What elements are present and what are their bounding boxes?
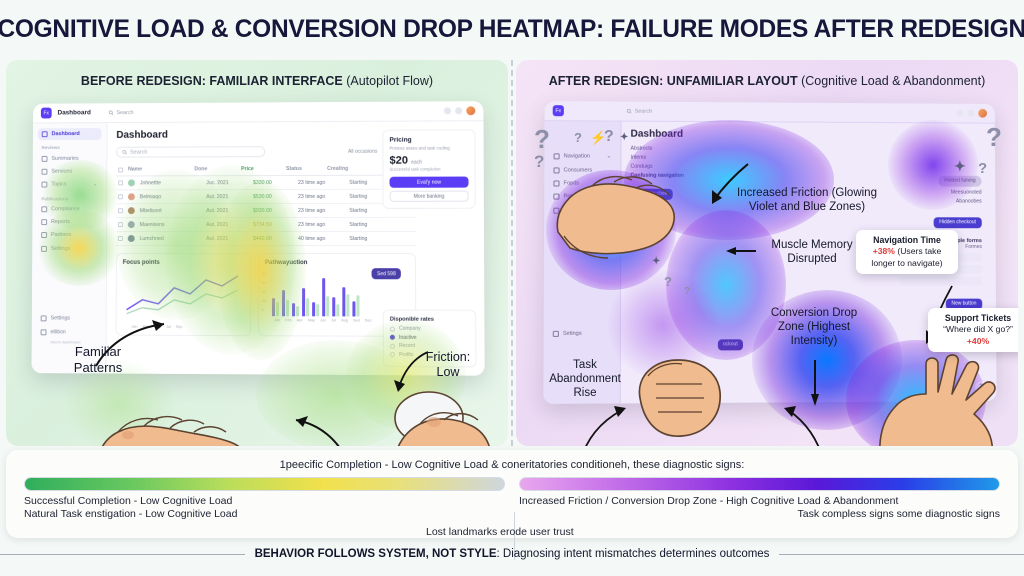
arrow-lost-landmarks bbox=[772, 400, 842, 446]
legend-col-right: Increased Friction / Conversion Drop Zon… bbox=[519, 477, 1000, 520]
menu-item-abstrocts[interactable]: Abstrocts bbox=[631, 146, 987, 154]
col-done[interactable]: Done bbox=[194, 166, 236, 172]
sidebar-item-compliance[interactable]: Compliance bbox=[37, 203, 101, 215]
avatar bbox=[128, 193, 135, 200]
focus-line-chart bbox=[123, 270, 242, 318]
sidebar-item-label: Compliance bbox=[51, 206, 80, 212]
right-panel-heading-note: (Cognitive Load & Abandonment) bbox=[801, 74, 985, 88]
topbar-icons[interactable] bbox=[444, 106, 475, 115]
legend-gradient-violet bbox=[519, 477, 1000, 491]
arrow-audit-caption bbox=[246, 412, 356, 446]
callout-muscle-memory: Muscle Memory Disrupted bbox=[752, 238, 872, 266]
sidebar-item-label: Topics bbox=[51, 182, 66, 188]
badge-quote: “Where did X go?” bbox=[943, 324, 1013, 334]
cell-price: $330.00 bbox=[253, 180, 293, 186]
app-brand-label: Dashboard bbox=[58, 109, 91, 116]
radio-inactive[interactable]: Inactive bbox=[390, 334, 469, 340]
list-item[interactable]: Meesuonoted bbox=[899, 189, 982, 195]
sidebar-item-consumers[interactable]: Consumers bbox=[549, 164, 615, 177]
gear-icon bbox=[41, 316, 47, 322]
right-panel-heading-bold: AFTER REDESIGN: UNFAMILIAR LAYOUT bbox=[549, 74, 798, 88]
left-panel-heading: BEFORE REDESIGN: FAMILIAR INTERFACE (Aut… bbox=[6, 74, 508, 88]
reports-icon bbox=[41, 219, 47, 225]
hidden-checkout-button[interactable]: Hidden checkout bbox=[933, 217, 981, 228]
left-panel-heading-note: (Autopilot Flow) bbox=[346, 74, 433, 88]
legend-lost-landmarks-label: Lost landmarks erode user trust bbox=[426, 526, 574, 538]
callout-friction-low: Friction: Low bbox=[410, 350, 486, 381]
summaries-icon bbox=[42, 155, 48, 161]
cell-name: Lumchned bbox=[140, 236, 202, 242]
badge-title: Navigation Time bbox=[863, 235, 951, 246]
app-logo-icon: Fx bbox=[553, 105, 564, 116]
legend-right-line1: Increased Friction / Conversion Drop Zon… bbox=[519, 495, 1000, 507]
topbar-search-placeholder: Search bbox=[116, 110, 133, 116]
avatar[interactable] bbox=[978, 109, 987, 118]
sidebar-item-label: Patrons bbox=[564, 194, 583, 200]
cell-time: 40 time ago bbox=[298, 235, 344, 241]
table-row[interactable]: Maenisens Aut. 2021 $734.50 23 time ago … bbox=[116, 218, 416, 232]
panel-before-redesign: BEFORE REDESIGN: FAMILIAR INTERFACE (Aut… bbox=[6, 60, 508, 446]
sidebar-item-topics[interactable]: Topics ⌄ bbox=[38, 179, 102, 191]
hand-illustration-left bbox=[84, 380, 264, 446]
partners-icon bbox=[41, 232, 47, 238]
sidebar-item-patrons[interactable]: Patrons bbox=[549, 191, 615, 204]
cell-date: Juc. 2021 bbox=[206, 180, 248, 186]
footer-text: BEHAVIOR FOLLOWS SYSTEM, NOT STYLE: Diag… bbox=[255, 548, 770, 560]
fopds-icon bbox=[553, 180, 559, 186]
cell-status: Starting bbox=[349, 193, 385, 199]
cell-status: Starting bbox=[349, 235, 385, 241]
col-name[interactable]: Name bbox=[128, 166, 189, 172]
avatar bbox=[128, 179, 135, 186]
callout-task-abandonment: Task Abandonment Rise bbox=[530, 358, 640, 400]
gear-icon bbox=[553, 207, 559, 213]
page-heading: Dashboard bbox=[116, 130, 168, 141]
row-checkbox[interactable] bbox=[118, 194, 123, 199]
gear-icon bbox=[41, 246, 47, 252]
menu-item-intems[interactable]: Intems bbox=[630, 155, 986, 162]
panel-after-redesign: AFTER REDESIGN: UNFAMILIAR LAYOUT (Cogni… bbox=[516, 60, 1018, 446]
patrons-icon bbox=[553, 194, 559, 200]
question-mark-icon: ? bbox=[534, 152, 544, 172]
cell-price: $530.00 bbox=[253, 193, 293, 199]
mock-topbar: Fx Dashboard Search bbox=[33, 101, 483, 123]
topics-icon bbox=[41, 182, 47, 188]
cell-status: Starting bbox=[349, 221, 385, 227]
pricing-note: Successful task completion bbox=[389, 166, 468, 171]
sidebar-group-publications: Publications bbox=[41, 196, 101, 201]
cell-time: 23 time ago bbox=[298, 207, 344, 213]
data-table: Name Done Price Status Creating Johnettt… bbox=[116, 163, 416, 246]
cell-date: Aut. 2021 bbox=[206, 194, 248, 200]
callout-familiar-patterns: Familiar Patterns bbox=[50, 344, 146, 376]
chart-tooltip: Sed 598 bbox=[372, 268, 401, 279]
sidebar-item-label: Dashboard bbox=[52, 131, 80, 137]
cell-price: $440.00 bbox=[253, 235, 293, 241]
rates-title: Disponible rates bbox=[390, 317, 469, 323]
sidebar-item-services[interactable]: Services bbox=[38, 165, 102, 177]
user-icon bbox=[41, 329, 47, 335]
grid-icon[interactable] bbox=[455, 107, 462, 114]
avatar bbox=[128, 207, 135, 214]
sidebar-item-label: Services bbox=[51, 169, 72, 175]
app-logo-icon: Fx bbox=[41, 108, 52, 119]
sidebar-item-fopds[interactable]: Fopds bbox=[549, 177, 615, 190]
radio-company[interactable]: Company bbox=[390, 326, 469, 332]
page-title-bar: COGNITIVE LOAD & CONVERSION DROP HEATMAP… bbox=[0, 0, 1024, 58]
topbar-search-input[interactable]: Search bbox=[627, 108, 951, 116]
pricing-secondary-button[interactable]: More banking bbox=[390, 191, 469, 202]
badge-navigation-time: Navigation Time +38% (Users take longer … bbox=[856, 230, 958, 274]
sidebar-item-reports[interactable]: Reports bbox=[37, 216, 101, 228]
col-status[interactable]: Status bbox=[286, 166, 322, 172]
footer-rest: : Diagnosing intent mismatches determine… bbox=[497, 548, 770, 560]
navigoto-chek-button[interactable]: Navigoto chek bbox=[630, 188, 672, 199]
avatar bbox=[128, 235, 135, 242]
pricing-amount: $20 bbox=[389, 155, 408, 167]
topbar-search-placeholder: Search bbox=[635, 108, 653, 114]
chevron-down-icon[interactable]: ⌄ bbox=[93, 182, 98, 188]
cell-status: Starting bbox=[349, 179, 385, 185]
sidebar-footer-setings[interactable]: Setings bbox=[549, 327, 615, 340]
cell-name: Mbelisont bbox=[140, 208, 201, 214]
sidebar-item-label: Settings bbox=[563, 207, 583, 213]
sidebar-item-partners[interactable]: Partners bbox=[37, 229, 101, 241]
sidebar-item-dashboard[interactable]: Dashboard bbox=[38, 128, 102, 140]
search-icon bbox=[122, 150, 127, 155]
table-row[interactable]: Johnettte Juc. 2021 $330.00 23 time ago … bbox=[116, 176, 416, 191]
search-icon bbox=[109, 110, 114, 115]
sidebar-item-label: Reports bbox=[51, 219, 70, 225]
badge-support-tickets: Support Tickets “Where did X go?” +40% bbox=[928, 308, 1018, 352]
search-icon bbox=[627, 109, 632, 114]
sidebar-item-settings[interactable]: Settings bbox=[549, 204, 615, 217]
cell-date: Aut. 2021 bbox=[206, 222, 248, 228]
table-header-row: Name Done Price Status Creating bbox=[116, 163, 416, 177]
cell-name: Johnettte bbox=[140, 180, 201, 186]
filter-dropdown[interactable]: All occasions bbox=[348, 148, 377, 154]
navigation-icon bbox=[554, 154, 560, 160]
sidebar-item-summaries[interactable]: Summaries bbox=[38, 152, 102, 164]
legend-label: Natural Task enstigation - Low Cognitive… bbox=[24, 508, 237, 520]
cell-price: $734.50 bbox=[253, 221, 293, 227]
sidebar-item-label: Settings bbox=[51, 246, 71, 252]
avatar bbox=[128, 221, 135, 228]
cell-date: Aut. 2021 bbox=[206, 236, 248, 242]
chevron-down-icon[interactable]: ⌄ bbox=[607, 154, 612, 160]
arrow-muscle-memory bbox=[722, 246, 756, 256]
sidebar-item-label: ellition bbox=[50, 329, 65, 335]
table-row[interactable]: Mbelisont Aut. 2021 $930.00 23 time ago … bbox=[116, 204, 416, 218]
bell-icon[interactable] bbox=[444, 107, 451, 114]
legend-label: Successful Completion - Low Cognitive Lo… bbox=[24, 495, 232, 507]
chart-y-axis: 80 60 40 20 0 bbox=[262, 270, 266, 315]
topbar-icons[interactable] bbox=[957, 109, 987, 118]
bell-icon[interactable] bbox=[957, 110, 964, 117]
sidebar-item-label: Consumers bbox=[564, 167, 593, 173]
badge-pct: +40% bbox=[935, 336, 1018, 347]
col-creating[interactable]: Creating bbox=[327, 166, 373, 172]
panel-divider bbox=[511, 60, 513, 446]
services-icon bbox=[42, 169, 48, 175]
cell-name: Maenisens bbox=[140, 222, 201, 228]
avatar[interactable] bbox=[466, 106, 475, 115]
legend-label: Task compless signs some diagnostic sign… bbox=[797, 508, 1000, 520]
row-checkbox[interactable] bbox=[118, 180, 123, 185]
sidebar-item-label: Summaries bbox=[51, 155, 78, 161]
legend-label: Increased Friction / Conversion Drop Zon… bbox=[519, 495, 898, 507]
legend-col-left: Successful Completion - Low Cognitive Lo… bbox=[24, 477, 505, 520]
checkout-button[interactable]: ockout bbox=[718, 339, 743, 350]
legend-left-line1: Successful Completion - Low Cognitive Lo… bbox=[24, 495, 505, 507]
table-row[interactable]: Lumchned Aut. 2021 $440.00 40 time ago S… bbox=[116, 232, 416, 246]
right-panel-heading: AFTER REDESIGN: UNFAMILIAR LAYOUT (Cogni… bbox=[516, 74, 1018, 88]
gear-icon bbox=[553, 331, 559, 337]
mock-topbar: Fx Search bbox=[545, 101, 995, 124]
row-checkbox[interactable] bbox=[118, 222, 123, 227]
col-price[interactable]: Price bbox=[241, 166, 281, 172]
hidded-fuining-pill[interactable]: Hidded fuining bbox=[938, 175, 981, 186]
sidebar-item-settings[interactable]: Settings bbox=[37, 243, 101, 255]
sidebar-item-label: Navigation bbox=[564, 154, 590, 160]
table-row[interactable]: Belmiaqo Aut. 2021 $530.00 23 time ago S… bbox=[116, 190, 416, 205]
cell-date: Aut. 2021 bbox=[206, 208, 248, 214]
row-checkbox[interactable] bbox=[118, 208, 123, 213]
consumers-icon bbox=[553, 167, 559, 173]
footer-rule-left bbox=[0, 554, 245, 555]
callout-increased-friction: Increased Friction (Glowing Violet and B… bbox=[712, 186, 902, 214]
cell-time: 23 time ago bbox=[298, 193, 344, 199]
compliance-icon bbox=[41, 206, 47, 212]
callout-conversion-drop: Conversion Drop Zone (Highest Intensity) bbox=[744, 306, 884, 348]
left-panel-heading-bold: BEFORE REDESIGN: FAMILIAR INTERFACE bbox=[81, 74, 343, 88]
badge-title: Support Tickets bbox=[935, 313, 1018, 324]
pricing-cta-button[interactable]: Eval'y now bbox=[390, 177, 469, 188]
sidebar-item-label: Settings bbox=[50, 316, 70, 322]
cell-price: $930.00 bbox=[253, 207, 293, 213]
help-badge-icon[interactable]: ? bbox=[975, 381, 987, 393]
card-title: Pathwayuction bbox=[265, 260, 409, 266]
cell-name: Belmiaqo bbox=[140, 194, 201, 200]
list-item[interactable]: Abanoobes bbox=[899, 198, 982, 204]
select-all-checkbox[interactable] bbox=[118, 167, 123, 172]
row-checkbox[interactable] bbox=[118, 236, 123, 241]
page-title: COGNITIVE LOAD & CONVERSION DROP HEATMAP… bbox=[0, 15, 1024, 44]
cell-time: 23 time ago bbox=[298, 179, 344, 185]
table-search-placeholder: Search bbox=[130, 149, 147, 155]
sidebar-group-reviews: Reviews bbox=[42, 145, 102, 150]
pricing-unit: each bbox=[411, 160, 422, 166]
footer-bar: BEHAVIOR FOLLOWS SYSTEM, NOT STYLE: Diag… bbox=[0, 548, 1024, 560]
cell-status: Starting bbox=[349, 207, 385, 213]
dashboard-icon bbox=[42, 131, 48, 137]
footer-bold: BEHAVIOR FOLLOWS SYSTEM, NOT STYLE bbox=[255, 548, 497, 560]
pricing-subtitle: Protess asses and task coding bbox=[389, 145, 468, 150]
sidebar-item-navigation[interactable]: Navigation ⌄ bbox=[549, 150, 615, 163]
legend-right-line2: Task compless signs some diagnostic sign… bbox=[519, 508, 1000, 520]
badge-pct: +38% bbox=[873, 246, 895, 256]
arrow-unfamiliar-arrangements bbox=[566, 400, 636, 446]
pricing-card: Pricing Protess asses and task coding $2… bbox=[382, 129, 475, 209]
footer-rule-right bbox=[779, 554, 1024, 555]
table-search-input[interactable]: Search bbox=[116, 146, 265, 157]
cell-time: 23 time ago bbox=[298, 221, 344, 227]
topbar-search-input[interactable]: Search bbox=[109, 108, 438, 116]
sidebar-item-label: Partners bbox=[51, 232, 71, 238]
card-title: Focus points bbox=[123, 260, 244, 266]
legend-left-line2: Natural Task enstigation - Low Cognitive… bbox=[24, 508, 505, 520]
legend-caption: 1peecific Completion - Low Cognitive Loa… bbox=[6, 450, 1018, 471]
grid-icon[interactable] bbox=[967, 110, 974, 117]
sidebar-item-label: Fopds bbox=[564, 180, 580, 186]
page-heading: Dashboard bbox=[631, 129, 987, 142]
legend-panel: 1peecific Completion - Low Cognitive Loa… bbox=[6, 450, 1018, 538]
pricing-title: Pricing bbox=[389, 136, 468, 143]
legend-gradient-green bbox=[24, 477, 505, 491]
